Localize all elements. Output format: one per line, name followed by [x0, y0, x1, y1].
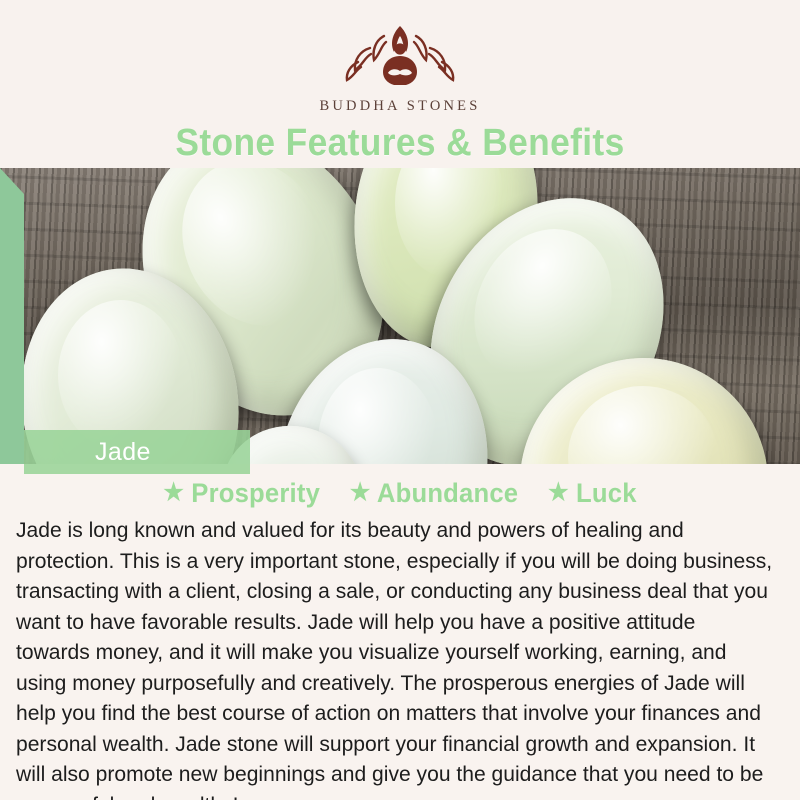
stone-name-label: Jade [95, 438, 151, 467]
header: BUDDHA STONES Stone Features & Benefits [0, 0, 800, 168]
star-icon-2: ★ [350, 479, 371, 506]
star-icon-3: ★ [548, 479, 569, 506]
description-text: Jade is long known and valued for its be… [16, 515, 772, 800]
benefits-row: ★ Prosperity ★ Abundance ★ Luck [20, 478, 780, 509]
description-panel: ★ Prosperity ★ Abundance ★ Luck Jade is … [0, 464, 800, 800]
star-icon-1: ★ [163, 479, 184, 506]
lotus-meditation-icon [334, 18, 466, 92]
stone-name-tag: Jade [24, 430, 250, 474]
page-title: Stone Features & Benefits [28, 122, 772, 165]
benefit-label-luck: Luck [576, 478, 637, 508]
benefit-label-prosperity: Prosperity [191, 478, 320, 508]
brand-name: BUDDHA STONES [320, 98, 481, 115]
infographic-card: BUDDHA STONES Stone Features & Benefits … [0, 0, 800, 800]
stone-photo [0, 168, 800, 464]
decorative-photo-left-triangle [0, 168, 24, 464]
benefit-label-abundance: Abundance [377, 478, 518, 508]
brand-logo: BUDDHA STONES [0, 18, 800, 115]
